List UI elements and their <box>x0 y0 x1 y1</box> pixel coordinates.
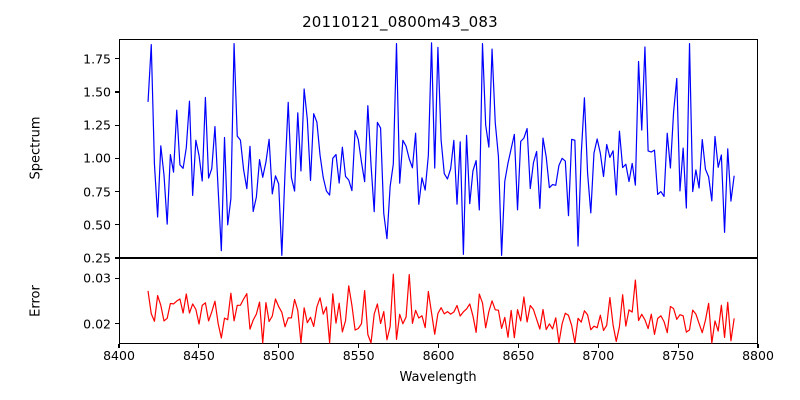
spectrum-y-tick-label: 1.25 <box>55 118 111 133</box>
spectrum-y-tick-mark <box>115 191 119 192</box>
spectrum-y-tick-label: 1.50 <box>55 85 111 100</box>
error-y-tick-label: 0.02 <box>55 316 111 331</box>
x-tick-label: 8750 <box>662 348 694 363</box>
error-plot-area <box>119 258 758 344</box>
spectrum-y-tick-label: 1.75 <box>55 51 111 66</box>
spectrum-y-tick-mark <box>115 257 119 258</box>
x-tick-label: 8700 <box>582 348 614 363</box>
x-tick-label: 8550 <box>343 348 375 363</box>
page-title: 20110121_0800m43_083 <box>0 13 800 31</box>
x-tick-label: 8450 <box>183 348 215 363</box>
x-tick-label: 8500 <box>263 348 295 363</box>
x-tick-label: 8650 <box>502 348 534 363</box>
spectrum-y-tick-mark <box>115 158 119 159</box>
x-axis-label: Wavelength <box>399 370 476 385</box>
error-y-tick-mark <box>115 278 119 279</box>
figure-canvas: 20110121_0800m43_083 Spectrum Error Wave… <box>0 0 800 400</box>
spectrum-line-series <box>120 40 759 259</box>
spectrum-y-tick-label: 0.75 <box>55 184 111 199</box>
spectrum-y-tick-mark <box>115 224 119 225</box>
spectrum-plot-area <box>119 39 758 258</box>
x-tick-label: 8400 <box>103 348 135 363</box>
error-y-tick-mark <box>115 323 119 324</box>
spectrum-y-tick-label: 0.25 <box>55 251 111 266</box>
spectrum-y-tick-mark <box>115 58 119 59</box>
spectrum-data-line <box>148 43 734 256</box>
error-line-series <box>120 259 759 345</box>
error-data-line <box>148 274 734 343</box>
x-tick-label: 8800 <box>742 348 774 363</box>
y-axis-label-error: Error <box>29 285 44 317</box>
y-axis-label-spectrum: Spectrum <box>29 117 44 180</box>
spectrum-y-tick-label: 0.50 <box>55 217 111 232</box>
spectrum-y-tick-label: 1.00 <box>55 151 111 166</box>
x-tick-label: 8600 <box>423 348 455 363</box>
spectrum-y-tick-mark <box>115 91 119 92</box>
error-y-tick-label: 0.03 <box>55 271 111 286</box>
spectrum-y-tick-mark <box>115 125 119 126</box>
